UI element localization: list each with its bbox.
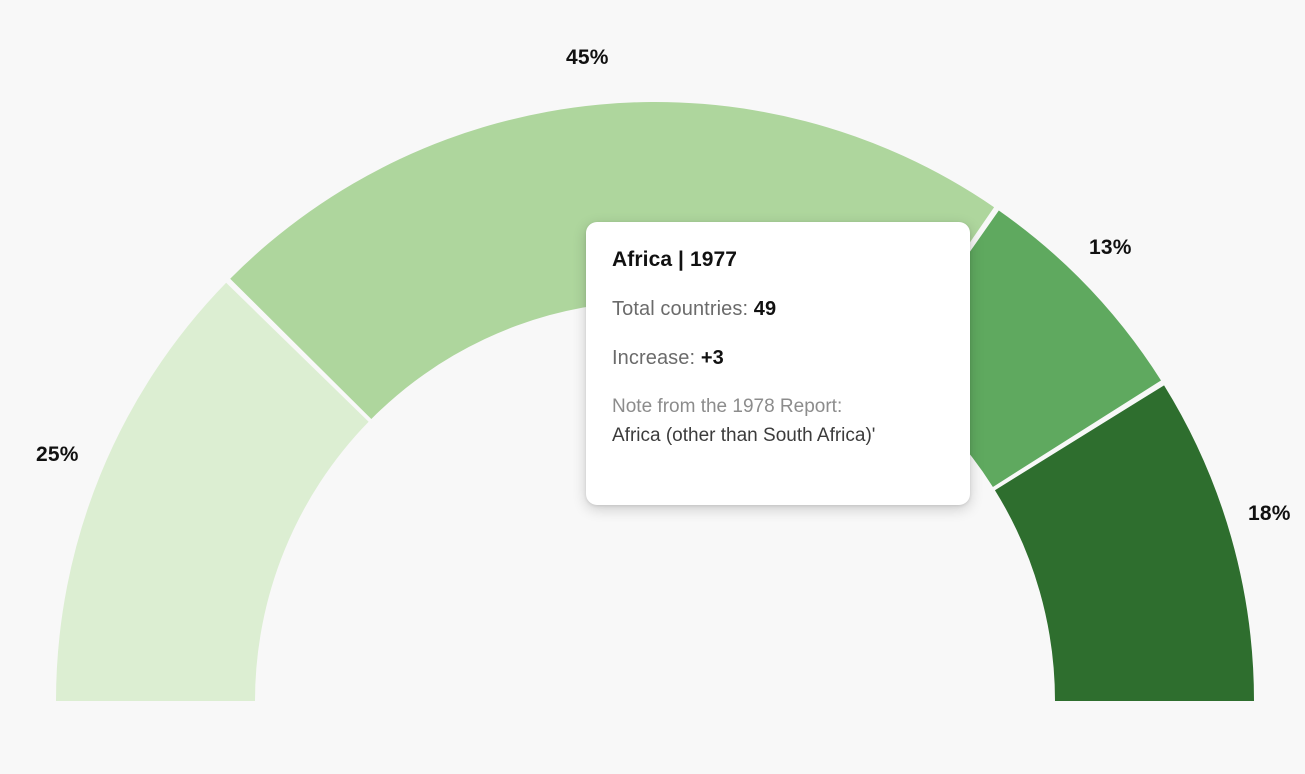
segment-label-13: 13% (1089, 236, 1132, 260)
tooltip-row-total-countries: Total countries: 49 (612, 298, 944, 321)
tooltip-note: Note from the 1978 Report: Africa (other… (612, 396, 944, 447)
gauge-chart-stage: 25% 45% 13% 18% Africa | 1977 Total coun… (0, 0, 1305, 774)
segment-label-25: 25% (36, 443, 79, 467)
tooltip-row-label: Total countries: (612, 298, 748, 320)
chart-tooltip: Africa | 1977 Total countries: 49 Increa… (586, 222, 970, 505)
tooltip-row-value: 49 (754, 298, 776, 320)
segment-label-18: 18% (1248, 502, 1291, 526)
tooltip-title: Africa | 1977 (612, 248, 944, 272)
tooltip-note-label: Note from the 1978 Report: (612, 396, 944, 418)
tooltip-row-label: Increase: (612, 347, 695, 369)
segment-label-45: 45% (566, 46, 609, 70)
tooltip-note-text: Africa (other than South Africa)' (612, 425, 944, 447)
tooltip-row-increase: Increase: +3 (612, 347, 944, 370)
tooltip-row-value: +3 (701, 347, 724, 369)
